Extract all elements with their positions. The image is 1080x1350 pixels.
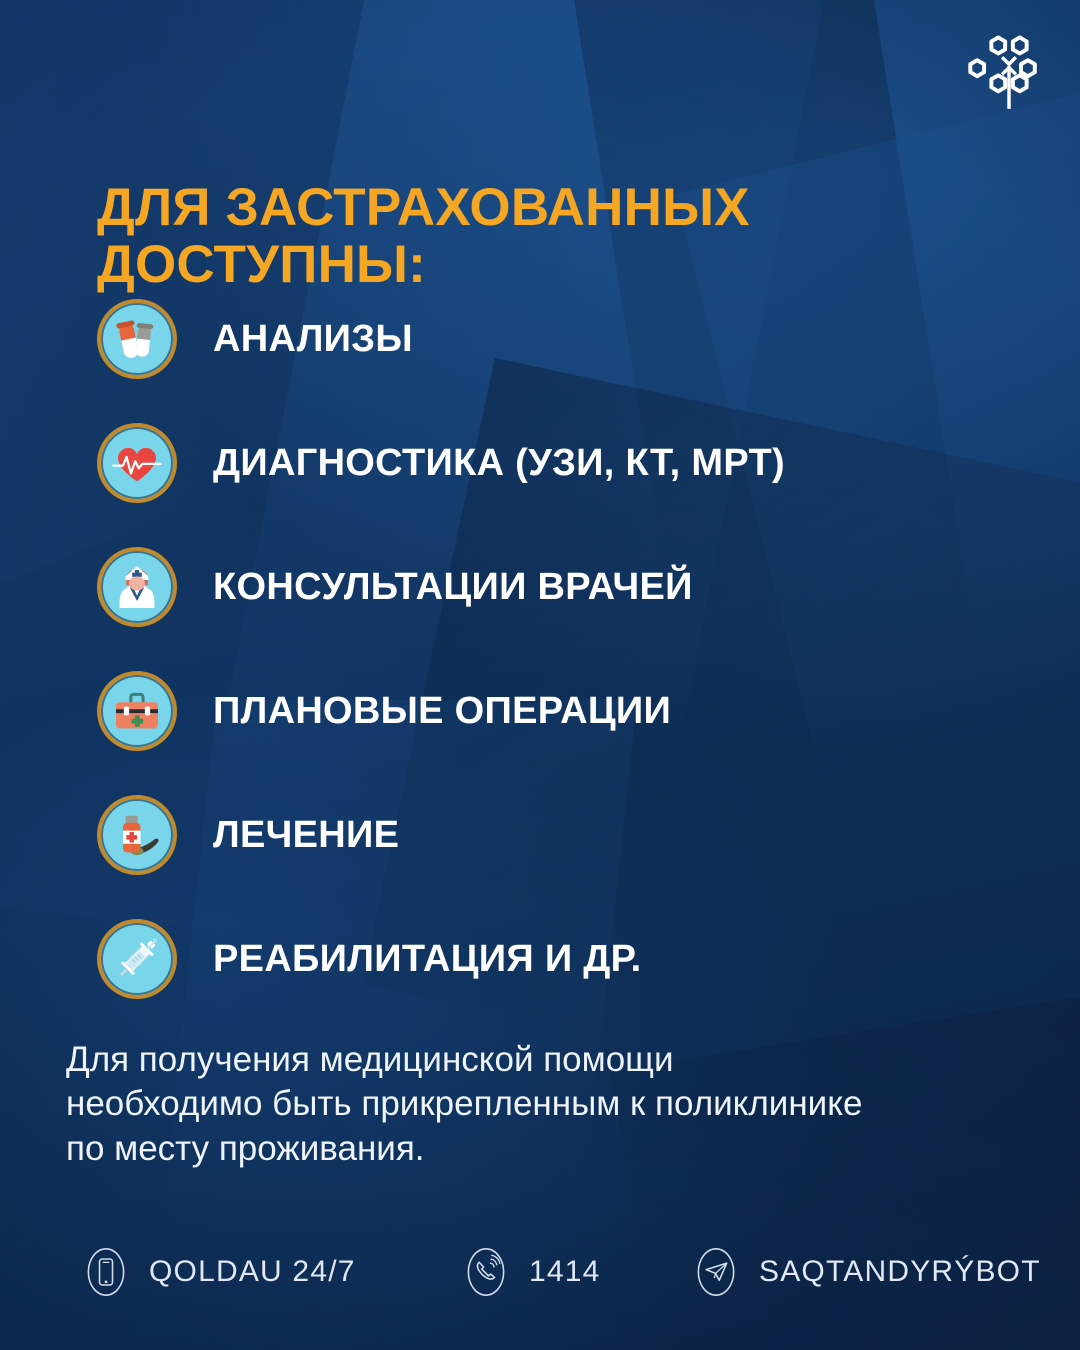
nurse-icon [97,547,177,627]
page-title: ДЛЯ ЗАСТРАХОВАННЫХ ДОСТУПНЫ: [97,179,957,294]
disclaimer-line-1: Для получения медицинской помощи [66,1038,1046,1082]
disclaimer-line-3: по месту проживания. [66,1127,1046,1171]
list-item: РЕАБИЛИТАЦИЯ И ДР. [97,917,1017,1001]
snowflake-hexagon-logo-icon [966,28,1052,114]
contact-label: QOLDAU 24/7 [149,1255,356,1289]
medical-briefcase-icon [97,671,177,751]
list-item: АНАЛИЗЫ [97,297,1017,381]
contact-qoldau[interactable]: QOLDAU 24/7 [85,1246,465,1298]
heart-ecg-icon [97,423,177,503]
telegram-paper-plane-icon [695,1246,737,1298]
medicine-bottle-spoon-icon [97,795,177,875]
syringe-icon [97,919,177,999]
poster-canvas: ДЛЯ ЗАСТРАХОВАННЫХ ДОСТУПНЫ: [0,0,1080,1350]
contact-label: 1414 [529,1255,601,1289]
page-title-line-1: ДЛЯ ЗАСТРАХОВАННЫХ [97,178,750,237]
list-item-label: КОНСУЛЬТАЦИИ ВРАЧЕЙ [213,566,693,609]
footer-contacts: QOLDAU 24/7 1414 [85,1246,1030,1298]
contact-label: SAQTANDYRÝBOT [759,1255,1041,1289]
phone-call-icon [465,1246,507,1298]
list-item: ДИАГНОСТИКА (УЗИ, КТ, МРТ) [97,421,1017,505]
disclaimer-line-2: необходимо быть прикрепленным к поликлин… [66,1082,1046,1126]
contact-hotline[interactable]: 1414 [465,1246,695,1298]
list-item-label: ЛЕЧЕНИЕ [213,814,399,857]
list-item-label: АНАЛИЗЫ [213,318,413,361]
list-item-label: ПЛАНОВЫЕ ОПЕРАЦИИ [213,690,671,733]
list-item-label: РЕАБИЛИТАЦИЯ И ДР. [213,938,641,981]
contact-telegram-bot[interactable]: SAQTANDYRÝBOT [695,1246,1030,1298]
services-list: АНАЛИЗЫ ДИАГНОСТИКА (УЗИ, КТ, МРТ) [97,297,1017,1041]
list-item: ПЛАНОВЫЕ ОПЕРАЦИИ [97,669,1017,753]
list-item-label: ДИАГНОСТИКА (УЗИ, КТ, МРТ) [213,442,785,485]
list-item: КОНСУЛЬТАЦИИ ВРАЧЕЙ [97,545,1017,629]
list-item: ЛЕЧЕНИЕ [97,793,1017,877]
disclaimer-note: Для получения медицинской помощи необход… [66,1038,1046,1171]
test-tubes-icon [97,299,177,379]
mobile-phone-icon [85,1246,127,1298]
page-title-line-2: ДОСТУПНЫ: [97,236,957,294]
